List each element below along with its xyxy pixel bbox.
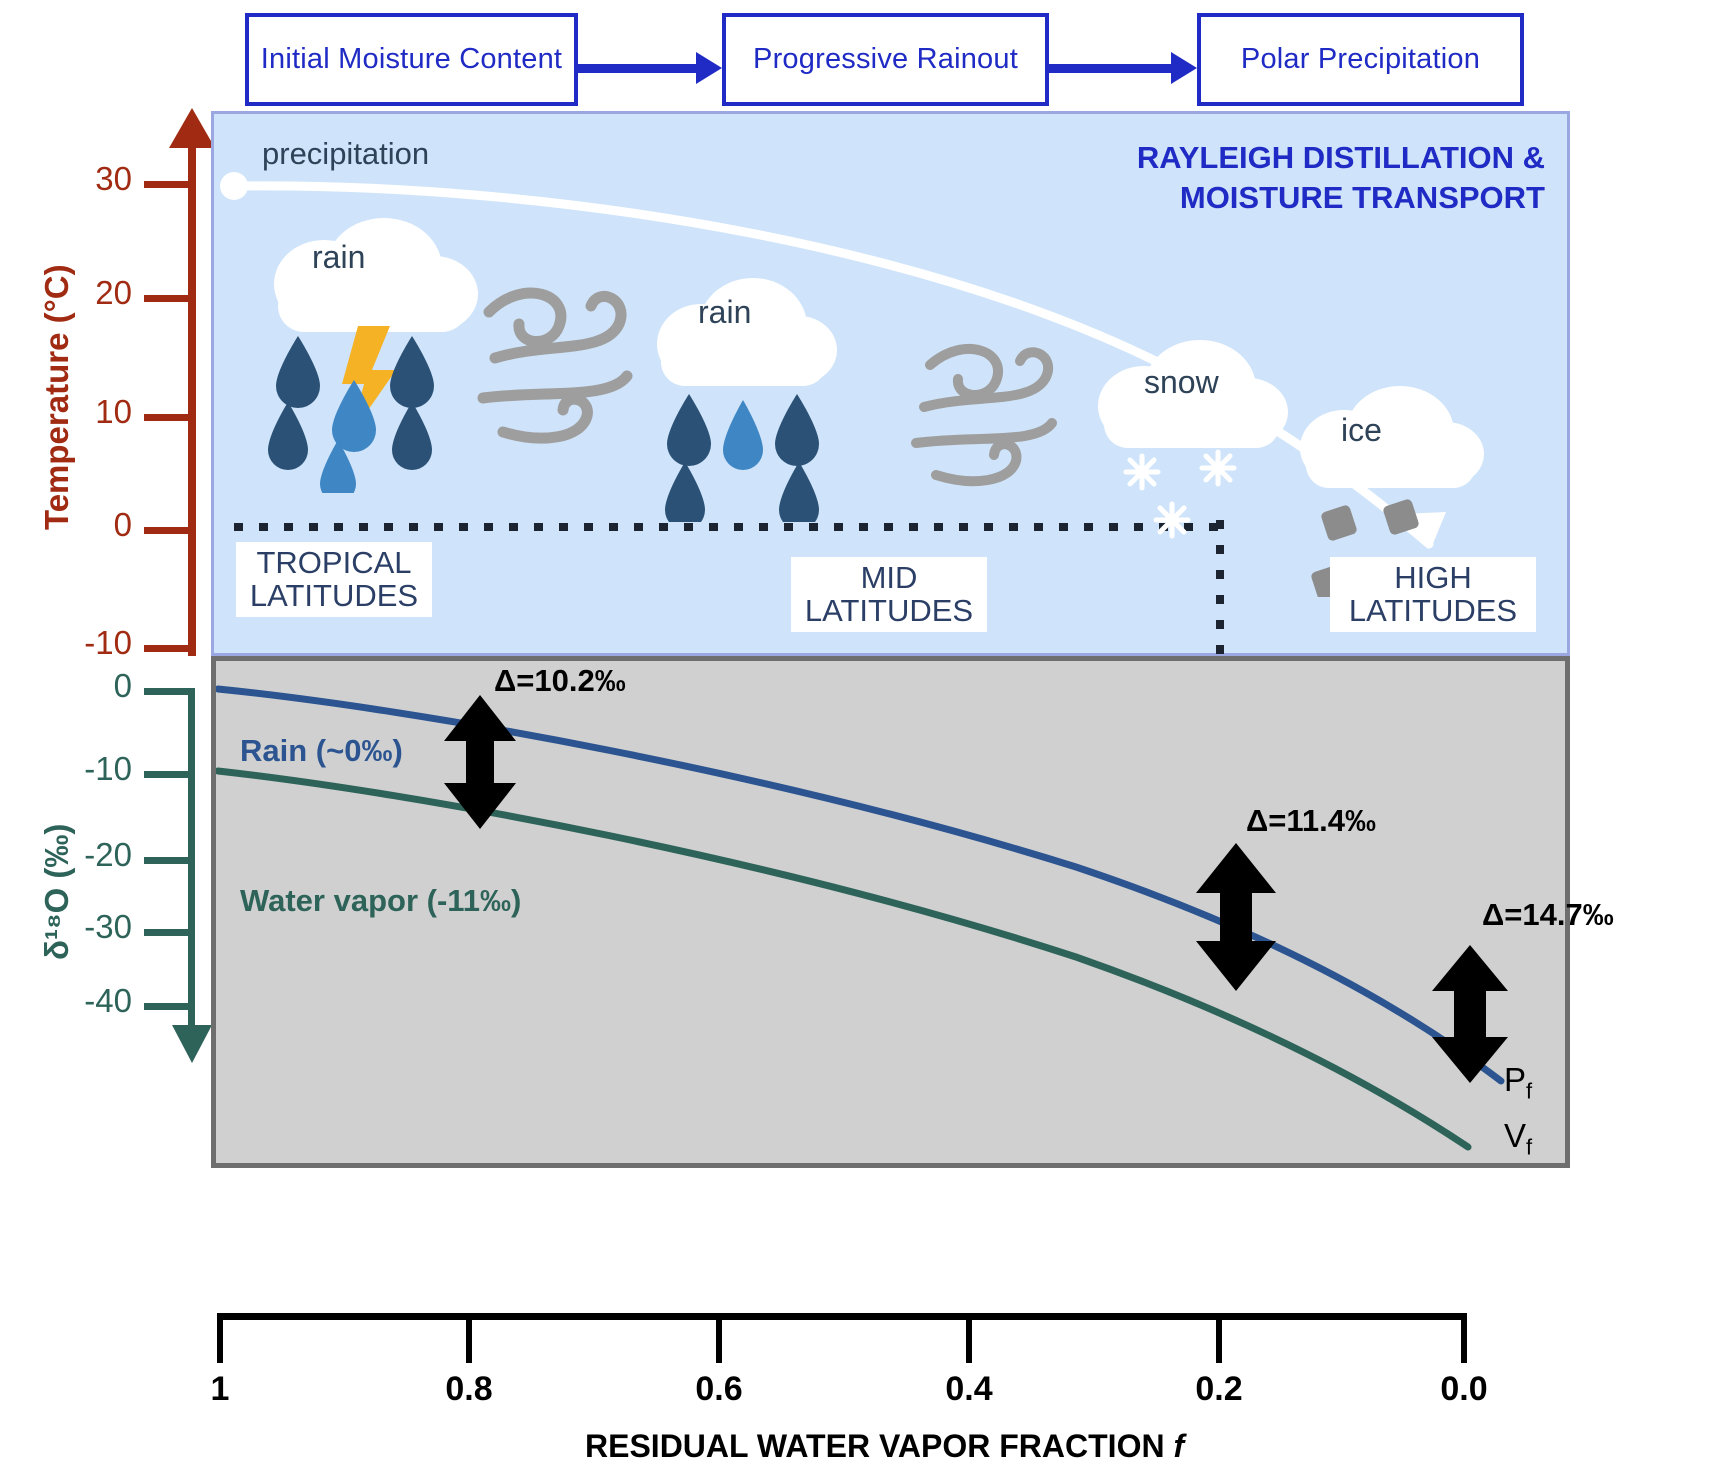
storm-cloud-icon [262,218,482,493]
temperature-axis-line [188,140,196,656]
endpoint-label-pf-base: P [1504,1061,1526,1098]
delta-axis-tick [144,771,194,778]
delta-axis-tick [144,1003,194,1010]
x-axis-tick [1461,1313,1467,1363]
endpoint-label-vf-sub: f [1526,1135,1532,1160]
series-label-water-vapor: Water vapor (-11‰) [240,883,521,919]
x-axis-tick-label: 0.8 [429,1370,509,1409]
latitude-band-line-1: MID [801,561,977,594]
x-axis-tick [1216,1313,1222,1363]
delta-axis-tick [144,929,194,936]
x-axis-tick-label: 0.0 [1424,1370,1504,1409]
temperature-axis-tick [144,295,194,302]
x-axis-tick-label: 0.6 [679,1370,759,1409]
upper-panel: RAYLEIGH DISTILLATION & MOISTURE TRANSPO… [211,111,1570,656]
endpoint-label-vf: Vf [1504,1117,1532,1161]
temperature-axis-title: Temperature (°C) [38,264,76,530]
delta-annotation-1: Δ=10.2‰ [494,663,626,699]
latitude-band-line-1: TROPICAL [246,546,422,579]
cloud-label-snow: snow [1144,364,1219,401]
delta-annotation-3: Δ=14.7‰ [1482,897,1614,933]
latitude-band-mid: MID LATITUDES [791,557,987,632]
x-axis-tick [966,1313,972,1363]
delta-axis-title: δ¹⁸O (‰) [38,824,76,960]
delta-annotation-2: Δ=11.4‰ [1246,803,1376,839]
flow-box-label: Initial Moisture Content [261,43,562,76]
cloud-label-rain-mid: rain [698,294,751,331]
cloud-label-rain-tropical: rain [312,239,365,276]
delta-axis-tick [144,857,194,864]
endpoint-label-pf-sub: f [1526,1079,1532,1104]
latitude-band-high: HIGH LATITUDES [1330,557,1536,632]
temperature-axis-tick [144,645,194,652]
temperature-axis-tick [144,414,194,421]
latitude-band-line-2: LATITUDES [1340,594,1526,627]
delta-axis-arrow-icon [172,1025,212,1063]
temperature-axis-arrow-icon [169,108,215,150]
delta-arrow-3-icon [1432,945,1508,1083]
temperature-axis-tick [144,181,194,188]
x-axis-tick-label: 0.2 [1179,1370,1259,1409]
flow-box-label: Polar Precipitation [1241,43,1480,76]
x-axis-title-symbol: f [1173,1428,1184,1464]
x-axis-tick-label: 1 [180,1370,260,1409]
flow-arrow-shaft [578,64,696,73]
x-axis-tick [716,1313,722,1363]
endpoint-label-vf-base: V [1504,1117,1526,1154]
delta-axis-tick-label: -40 [38,982,132,1020]
x-axis-line [217,1313,1467,1320]
flow-arrow-head-icon [696,52,722,84]
temperature-axis-tick-label: -10 [38,624,132,662]
x-axis-tick [466,1313,472,1363]
flow-box-polar-precipitation[interactable]: Polar Precipitation [1197,13,1524,106]
wind-icon [459,272,659,462]
flow-box-progressive-rainout[interactable]: Progressive Rainout [722,13,1049,106]
x-axis-title: RESIDUAL WATER VAPOR FRACTION f [585,1428,1184,1465]
flow-box-initial-moisture-content[interactable]: Initial Moisture Content [245,13,578,106]
temperature-axis-tick [144,527,194,534]
latitude-band-line-1: HIGH [1340,561,1526,594]
endpoint-label-pf: Pf [1504,1061,1532,1105]
cloud-label-ice: ice [1341,412,1382,449]
flow-box-label: Progressive Rainout [753,43,1018,76]
delta-axis-tick-label: 0 [60,667,132,705]
delta-arrow-1-icon [444,695,516,829]
lower-panel: Δ=10.2‰ Δ=11.4‰ Δ=14.7‰ Rain (~0‰) Water… [211,656,1570,1168]
delta-arrow-2-icon [1196,843,1276,991]
flow-arrow-shaft [1049,64,1171,73]
delta-axis-tick [144,688,194,695]
flow-arrow-head-icon [1171,52,1197,84]
x-axis-title-text: RESIDUAL WATER VAPOR FRACTION [585,1428,1173,1464]
delta-axis-tick-label: -10 [38,750,132,788]
latitude-band-tropical: TROPICAL LATITUDES [236,542,432,617]
temperature-axis-tick-label: 30 [60,160,132,198]
series-label-rain: Rain (~0‰) [240,733,403,769]
x-axis-tick-label: 0.4 [929,1370,1009,1409]
wind-icon [894,329,1084,499]
latitude-band-line-2: LATITUDES [246,579,422,612]
latitude-band-line-2: LATITUDES [801,594,977,627]
x-axis-tick [217,1313,223,1363]
